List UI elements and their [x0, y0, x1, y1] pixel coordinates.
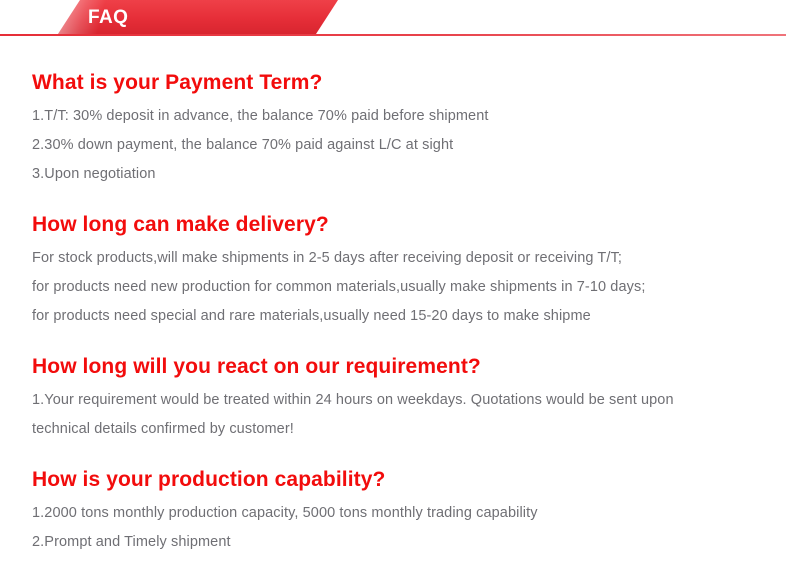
faq-answer-list: For stock products,will make shipments i…: [32, 244, 800, 331]
banner-title: FAQ: [88, 4, 128, 32]
faq-answer-line: 1.T/T: 30% deposit in advance, the balan…: [32, 102, 800, 131]
faq-banner: FAQ: [0, 0, 800, 40]
faq-answer-list: 1.Your requirement would be treated with…: [32, 386, 800, 444]
faq-section: How long will you react on our requireme…: [0, 354, 800, 444]
faq-answer-list: 1.2000 tons monthly production capacity,…: [32, 499, 800, 557]
faq-section: How long can make delivery? For stock pr…: [0, 212, 800, 331]
faq-question: How long can make delivery?: [32, 212, 800, 238]
faq-question: What is your Payment Term?: [32, 70, 800, 96]
faq-page: FAQ What is your Payment Term? 1.T/T: 30…: [0, 0, 800, 585]
faq-answer-line: For stock products,will make shipments i…: [32, 244, 800, 273]
faq-question: How is your production capability?: [32, 467, 800, 493]
faq-answer-line: for products need new production for com…: [32, 273, 800, 302]
faq-section: How is your production capability? 1.200…: [0, 467, 800, 557]
faq-answer-line: 1.Your requirement would be treated with…: [32, 386, 800, 415]
faq-content: What is your Payment Term? 1.T/T: 30% de…: [0, 40, 800, 557]
faq-section: What is your Payment Term? 1.T/T: 30% de…: [0, 70, 800, 189]
faq-question: How long will you react on our requireme…: [32, 354, 800, 380]
faq-answer-list: 1.T/T: 30% deposit in advance, the balan…: [32, 102, 800, 189]
banner-underline-rule: [0, 34, 786, 36]
faq-answer-line: 2.Prompt and Timely shipment: [32, 528, 800, 557]
faq-answer-line: 3.Upon negotiation: [32, 160, 800, 189]
faq-answer-line: 2.30% down payment, the balance 70% paid…: [32, 131, 800, 160]
faq-answer-line: 1.2000 tons monthly production capacity,…: [32, 499, 800, 528]
faq-answer-line: technical details confirmed by customer!: [32, 415, 800, 444]
faq-answer-line: for products need special and rare mater…: [32, 302, 800, 331]
